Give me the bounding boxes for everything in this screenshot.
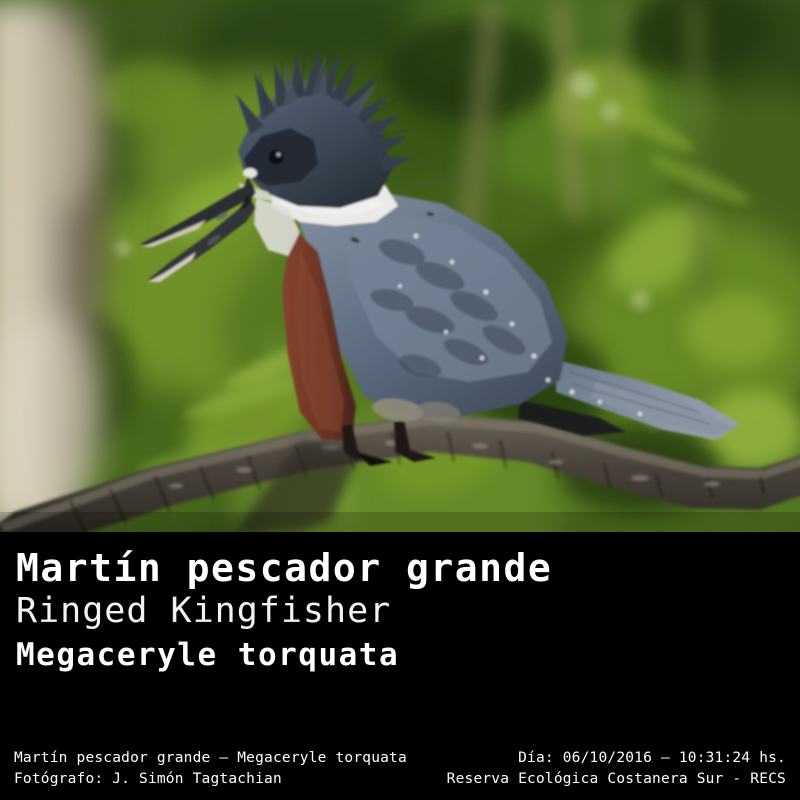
kingfisher-photograph: [0, 0, 800, 532]
footer-datetime-line: Día: 06/10/2016 — 10:31:24 hs.: [447, 748, 786, 769]
footer-left-column: Martín pescador grande — Megaceryle torq…: [14, 748, 407, 790]
footer-location-line: Reserva Ecológica Costanera Sur - RECS: [447, 769, 786, 790]
common-name-title: Martín pescador grande: [16, 546, 582, 590]
footer-photographer-line: Fotógrafo: J. Simón Tagtachian: [14, 769, 407, 790]
photo-illustration: [0, 0, 800, 532]
english-name-subtitle: Ringed Kingfisher: [16, 590, 391, 632]
footer-right-column: Día: 06/10/2016 — 10:31:24 hs. Reserva E…: [447, 748, 786, 790]
footer-credits-bar: Martín pescador grande — Megaceryle torq…: [0, 730, 800, 800]
species-caption-block: Martín pescador grande Ringed Kingfisher…: [0, 532, 800, 730]
footer-species-line: Martín pescador grande — Megaceryle torq…: [14, 748, 407, 769]
scientific-name: Megaceryle torquata: [16, 636, 399, 674]
bird-photo-card: Martín pescador grande Ringed Kingfisher…: [0, 0, 800, 800]
